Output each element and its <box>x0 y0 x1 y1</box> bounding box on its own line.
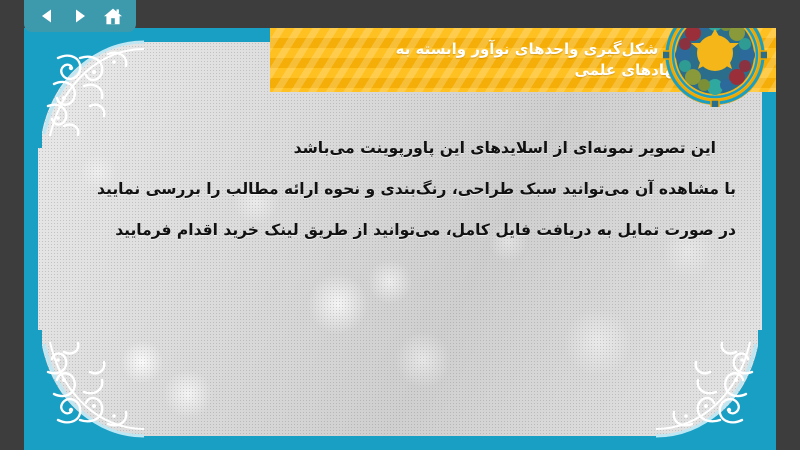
slide-body-text: این تصویر نمونه‌ای از اسلایدهای این پاور… <box>64 128 736 251</box>
next-slide-button[interactable] <box>67 4 93 28</box>
slide-title-line-2: در شکل‌گیری واحدهای نوآور وابسته به <box>396 39 680 60</box>
slide-viewer: تحلیل نقش خدمات پشتیبانی در مراکز رشد در… <box>0 0 800 450</box>
home-button[interactable] <box>100 4 126 28</box>
navigation-toolbar <box>24 0 136 32</box>
slide-body-line-3: در صورت تمایل به دریافت فایل کامل، می‌تو… <box>64 210 736 251</box>
slide-body-line-2: با مشاهده آن می‌توانید سبک طراحی، رنگ‌بن… <box>64 169 736 210</box>
slide-body-line-1: این تصویر نمونه‌ای از اسلایدهای این پاور… <box>64 128 716 169</box>
triangle-right-icon <box>71 7 89 25</box>
persian-medallion-icon <box>663 28 767 107</box>
presentation-slide: تحلیل نقش خدمات پشتیبانی در مراکز رشد در… <box>24 28 776 450</box>
home-icon <box>103 7 123 26</box>
triangle-left-icon <box>38 7 56 25</box>
previous-slide-button[interactable] <box>34 4 60 28</box>
